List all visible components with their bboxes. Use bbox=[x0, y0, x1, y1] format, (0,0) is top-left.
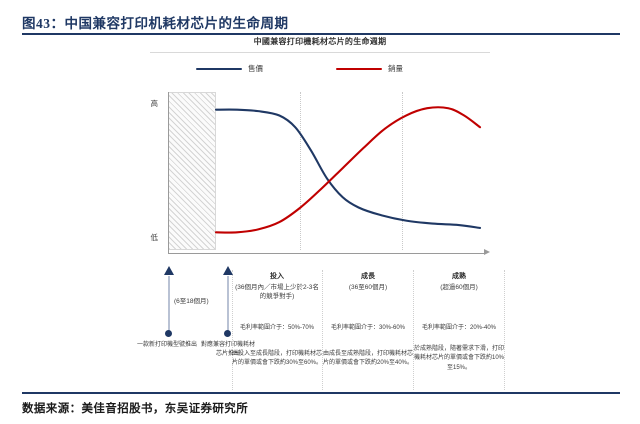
stage-description-introduction: 由投入至成長階段，打印機耗材芯片的單價或會下跌約30%至60%。 bbox=[231, 350, 323, 369]
stage-margin-growth: 毛利率範圍介于：30%-60% bbox=[322, 324, 414, 333]
stage-margin-introduction: 毛利率範圍介于：50%-70% bbox=[231, 324, 323, 333]
volume-line bbox=[216, 107, 480, 232]
plot-area: 高 低 bbox=[150, 92, 490, 260]
title-divider bbox=[150, 52, 490, 53]
band-duration-label: (6至18個月) bbox=[174, 295, 209, 305]
stage-period-growth: (36至60個月) bbox=[325, 283, 411, 292]
stage-margin-maturity: 毛利率範圍介于：20%-40% bbox=[413, 324, 505, 333]
legend-label-price: 售價 bbox=[248, 63, 263, 74]
marker-dot-left bbox=[165, 330, 172, 337]
stage-period-maturity: (超過60個月) bbox=[416, 283, 502, 292]
stage-name-introduction: 投入 bbox=[234, 272, 320, 283]
stage-name-maturity: 成熟 bbox=[416, 272, 502, 283]
marker-stem-right bbox=[227, 276, 229, 332]
stage-column-maturity: 成熟 (超過60個月) bbox=[416, 272, 502, 292]
chart-title: 中國兼容打印機耗材芯片的生命週期 bbox=[0, 36, 640, 47]
marker-dot-right bbox=[224, 330, 231, 337]
footer-divider bbox=[22, 392, 620, 394]
stage-column-introduction: 投入 (36個月內／市場上少於2-3名的競爭對手) bbox=[234, 272, 320, 301]
figure-caption: 图43：中国兼容打印机耗材芯片的生命周期 bbox=[22, 12, 289, 32]
stage-description-growth: 由成長至成熟階段，打印機耗材芯片的單價或會下跌約20%至40%。 bbox=[322, 350, 414, 369]
legend-swatch-volume bbox=[336, 68, 382, 70]
legend-item-volume[interactable]: 銷量 bbox=[336, 63, 403, 74]
marker-label-left: 一款新打印機型號推出 bbox=[134, 341, 200, 350]
stage-description-maturity: 於成熟階段，隨著需求下滑，打印機耗材芯片的單價或會下跌約10%至15%。 bbox=[413, 345, 505, 373]
chart-legend: 售價 銷量 bbox=[150, 60, 490, 78]
marker-arrow-left-icon bbox=[164, 266, 174, 275]
legend-item-price[interactable]: 售價 bbox=[196, 63, 263, 74]
legend-swatch-price bbox=[196, 68, 242, 70]
chart-curves bbox=[150, 92, 490, 260]
caption-divider bbox=[22, 33, 620, 35]
marker-stem-left bbox=[168, 276, 170, 332]
legend-label-volume: 銷量 bbox=[388, 63, 403, 74]
stage-name-growth: 成長 bbox=[325, 272, 411, 283]
source-note: 数据来源：美佳音招股书，东吴证券研究所 bbox=[22, 400, 248, 416]
stage-column-growth: 成長 (36至60個月) bbox=[325, 272, 411, 292]
stage-period-introduction: (36個月內／市場上少於2-3名的競爭對手) bbox=[234, 283, 320, 302]
price-line bbox=[216, 110, 480, 228]
